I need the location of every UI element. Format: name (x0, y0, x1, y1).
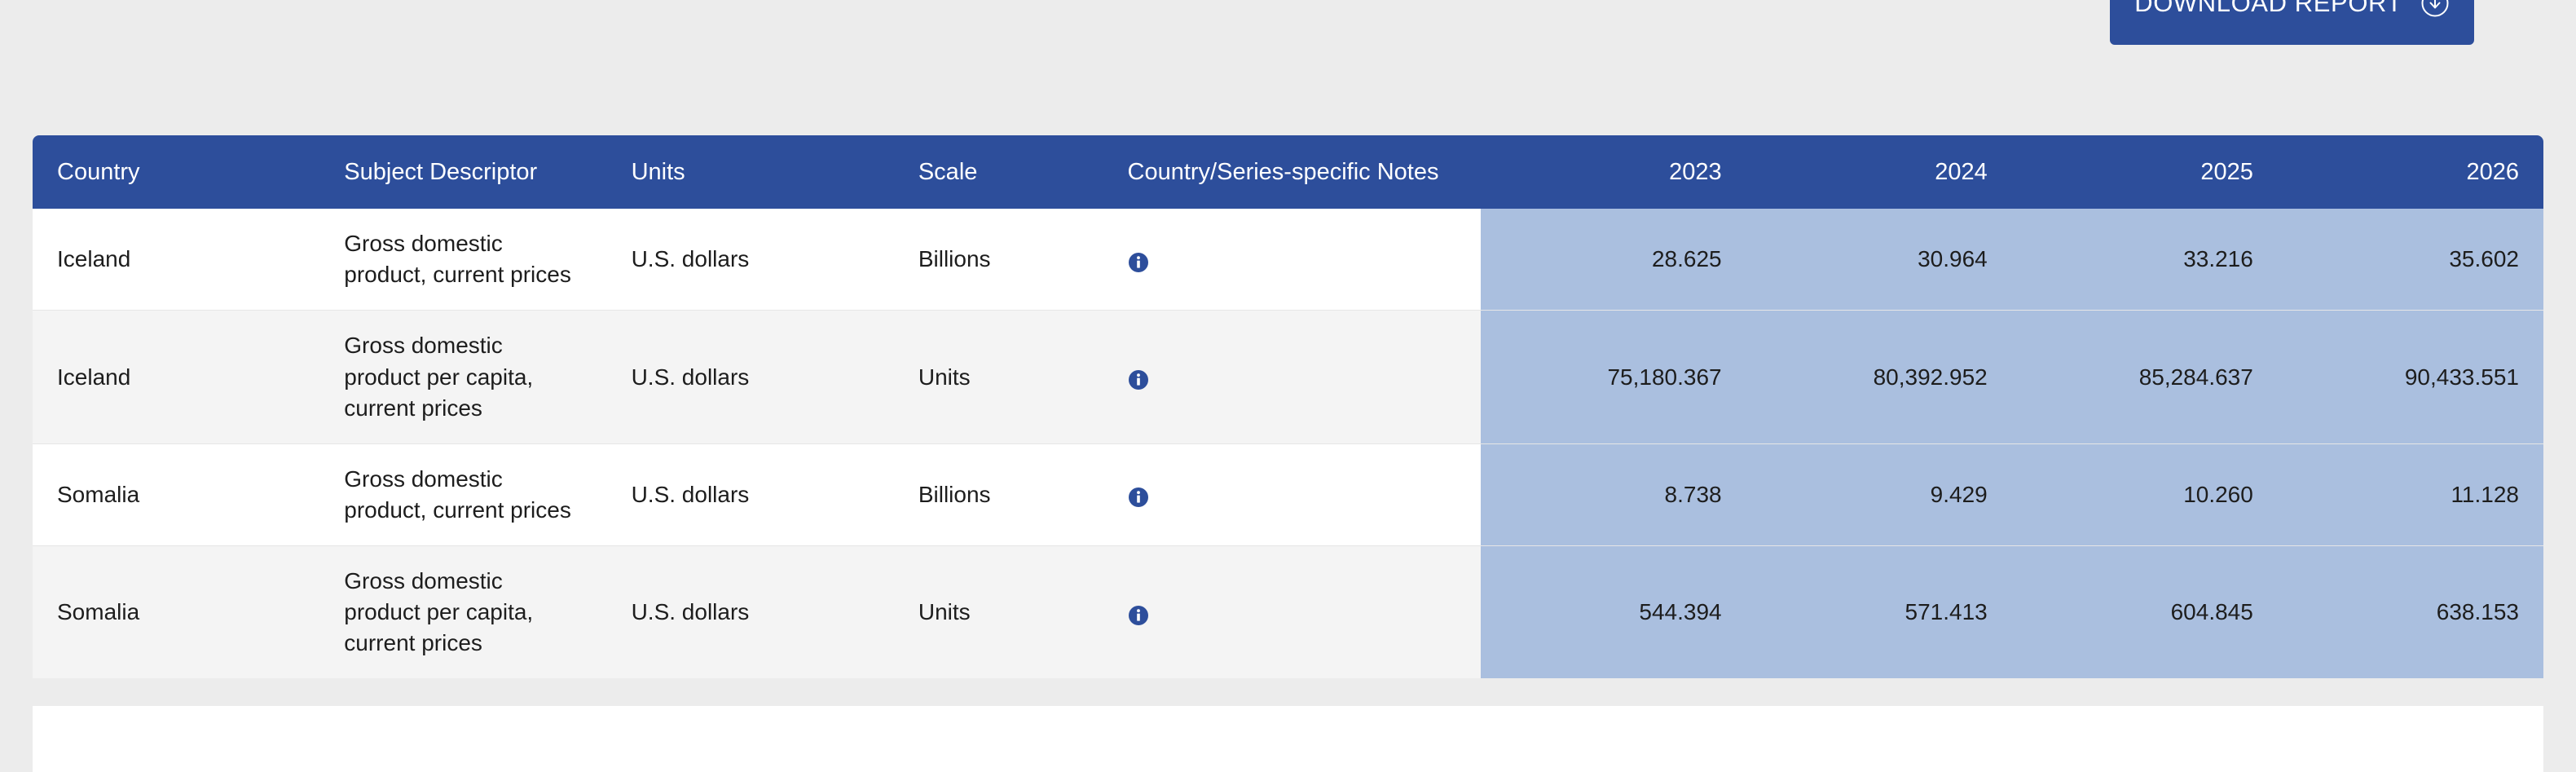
cell-2026: 11.128 (2278, 443, 2543, 545)
cell-country: Somalia (33, 443, 319, 545)
download-circle-icon (2420, 0, 2450, 18)
column-header-2023[interactable]: 2023 (1481, 135, 1746, 209)
cell-2023: 28.625 (1481, 209, 1746, 311)
download-report-label: DOWNLOAD REPORT (2134, 0, 2402, 15)
weo-data-table: Country Subject Descriptor Units Scale C… (33, 135, 2543, 678)
column-header-scale[interactable]: Scale (894, 135, 1103, 209)
column-header-subject-descriptor[interactable]: Subject Descriptor (319, 135, 606, 209)
cell-2023: 8.738 (1481, 443, 1746, 545)
cell-2025: 604.845 (2012, 545, 2278, 678)
cell-2026: 638.153 (2278, 545, 2543, 678)
cell-scale: Units (894, 311, 1103, 443)
cell-2024: 9.429 (1746, 443, 2012, 545)
column-header-units[interactable]: Units (607, 135, 894, 209)
info-icon[interactable] (1128, 603, 1149, 624)
column-header-2026[interactable]: 2026 (2278, 135, 2543, 209)
cell-2026: 90,433.551 (2278, 311, 2543, 443)
table-footer-strip (33, 706, 2543, 772)
cell-2024: 80,392.952 (1746, 311, 2012, 443)
column-header-2024[interactable]: 2024 (1746, 135, 2012, 209)
info-icon[interactable] (1128, 250, 1149, 271)
cell-subject: Gross domestic product per capita, curre… (319, 311, 606, 443)
column-header-country-series-specific-notes[interactable]: Country/Series-specific Notes (1103, 135, 1481, 209)
cell-2023: 544.394 (1481, 545, 1746, 678)
cell-country: Iceland (33, 209, 319, 311)
weo-data-table-container: Country Subject Descriptor Units Scale C… (33, 135, 2543, 678)
cell-2025: 85,284.637 (2012, 311, 2278, 443)
cell-country: Iceland (33, 311, 319, 443)
table-row: Iceland Gross domestic product per capit… (33, 311, 2543, 443)
table-header-row: Country Subject Descriptor Units Scale C… (33, 135, 2543, 209)
cell-2025: 10.260 (2012, 443, 2278, 545)
cell-2024: 571.413 (1746, 545, 2012, 678)
cell-scale: Billions (894, 443, 1103, 545)
cell-subject: Gross domestic product per capita, curre… (319, 545, 606, 678)
info-icon[interactable] (1128, 485, 1149, 506)
cell-notes (1103, 209, 1481, 311)
cell-notes (1103, 311, 1481, 443)
info-icon[interactable] (1128, 368, 1149, 389)
table-row: Somalia Gross domestic product, current … (33, 443, 2543, 545)
table-body: Iceland Gross domestic product, current … (33, 209, 2543, 678)
cell-notes (1103, 545, 1481, 678)
cell-subject: Gross domestic product, current prices (319, 209, 606, 311)
cell-2026: 35.602 (2278, 209, 2543, 311)
table-row: Iceland Gross domestic product, current … (33, 209, 2543, 311)
top-action-bar: DOWNLOAD REPORT (0, 0, 2576, 46)
column-header-2025[interactable]: 2025 (2012, 135, 2278, 209)
cell-units: U.S. dollars (607, 443, 894, 545)
cell-subject: Gross domestic product, current prices (319, 443, 606, 545)
cell-country: Somalia (33, 545, 319, 678)
cell-units: U.S. dollars (607, 545, 894, 678)
cell-units: U.S. dollars (607, 209, 894, 311)
cell-2025: 33.216 (2012, 209, 2278, 311)
download-report-button[interactable]: DOWNLOAD REPORT (2110, 0, 2474, 45)
cell-scale: Billions (894, 209, 1103, 311)
cell-2024: 30.964 (1746, 209, 2012, 311)
cell-units: U.S. dollars (607, 311, 894, 443)
cell-notes (1103, 443, 1481, 545)
table-header: Country Subject Descriptor Units Scale C… (33, 135, 2543, 209)
cell-2023: 75,180.367 (1481, 311, 1746, 443)
table-row: Somalia Gross domestic product per capit… (33, 545, 2543, 678)
column-header-country[interactable]: Country (33, 135, 319, 209)
cell-scale: Units (894, 545, 1103, 678)
